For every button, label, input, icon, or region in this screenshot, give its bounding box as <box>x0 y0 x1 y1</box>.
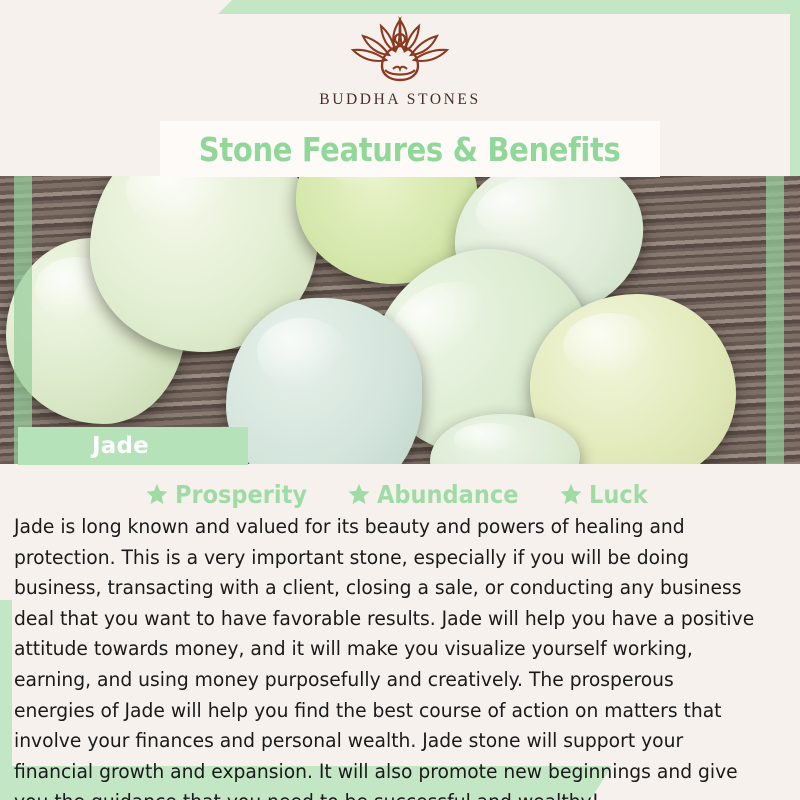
benefit-label: Luck <box>589 480 648 509</box>
benefit-item: Prosperity <box>146 480 322 509</box>
page-title-banner: Stone Features & Benefits <box>160 121 660 177</box>
stone-name-bar: Jade <box>18 427 248 465</box>
decor-strip-photo-left <box>14 176 32 464</box>
star-icon <box>348 483 370 505</box>
brand-name: BUDDHA STONES <box>319 91 480 109</box>
benefits-list: Prosperity Abundance Luck <box>0 474 800 514</box>
benefit-item: Luck <box>560 480 654 509</box>
brand-logo: BUDDHA STONES <box>0 0 800 122</box>
stone-description: Jade is long known and valued for its be… <box>14 512 757 800</box>
stone-photo <box>0 176 800 464</box>
benefit-label: Prosperity <box>175 480 307 509</box>
lotus-meditation-icon <box>341 14 459 86</box>
benefit-item: Abundance <box>348 480 534 509</box>
star-icon <box>560 483 582 505</box>
page-title: Stone Features & Benefits <box>199 130 621 169</box>
decor-strip-photo-right <box>766 176 784 464</box>
star-icon <box>146 483 168 505</box>
benefit-label: Abundance <box>377 480 518 509</box>
infographic-page: BUDDHA STONES Stone Features & Benefits … <box>0 0 800 800</box>
stone-name: Jade <box>92 433 149 459</box>
